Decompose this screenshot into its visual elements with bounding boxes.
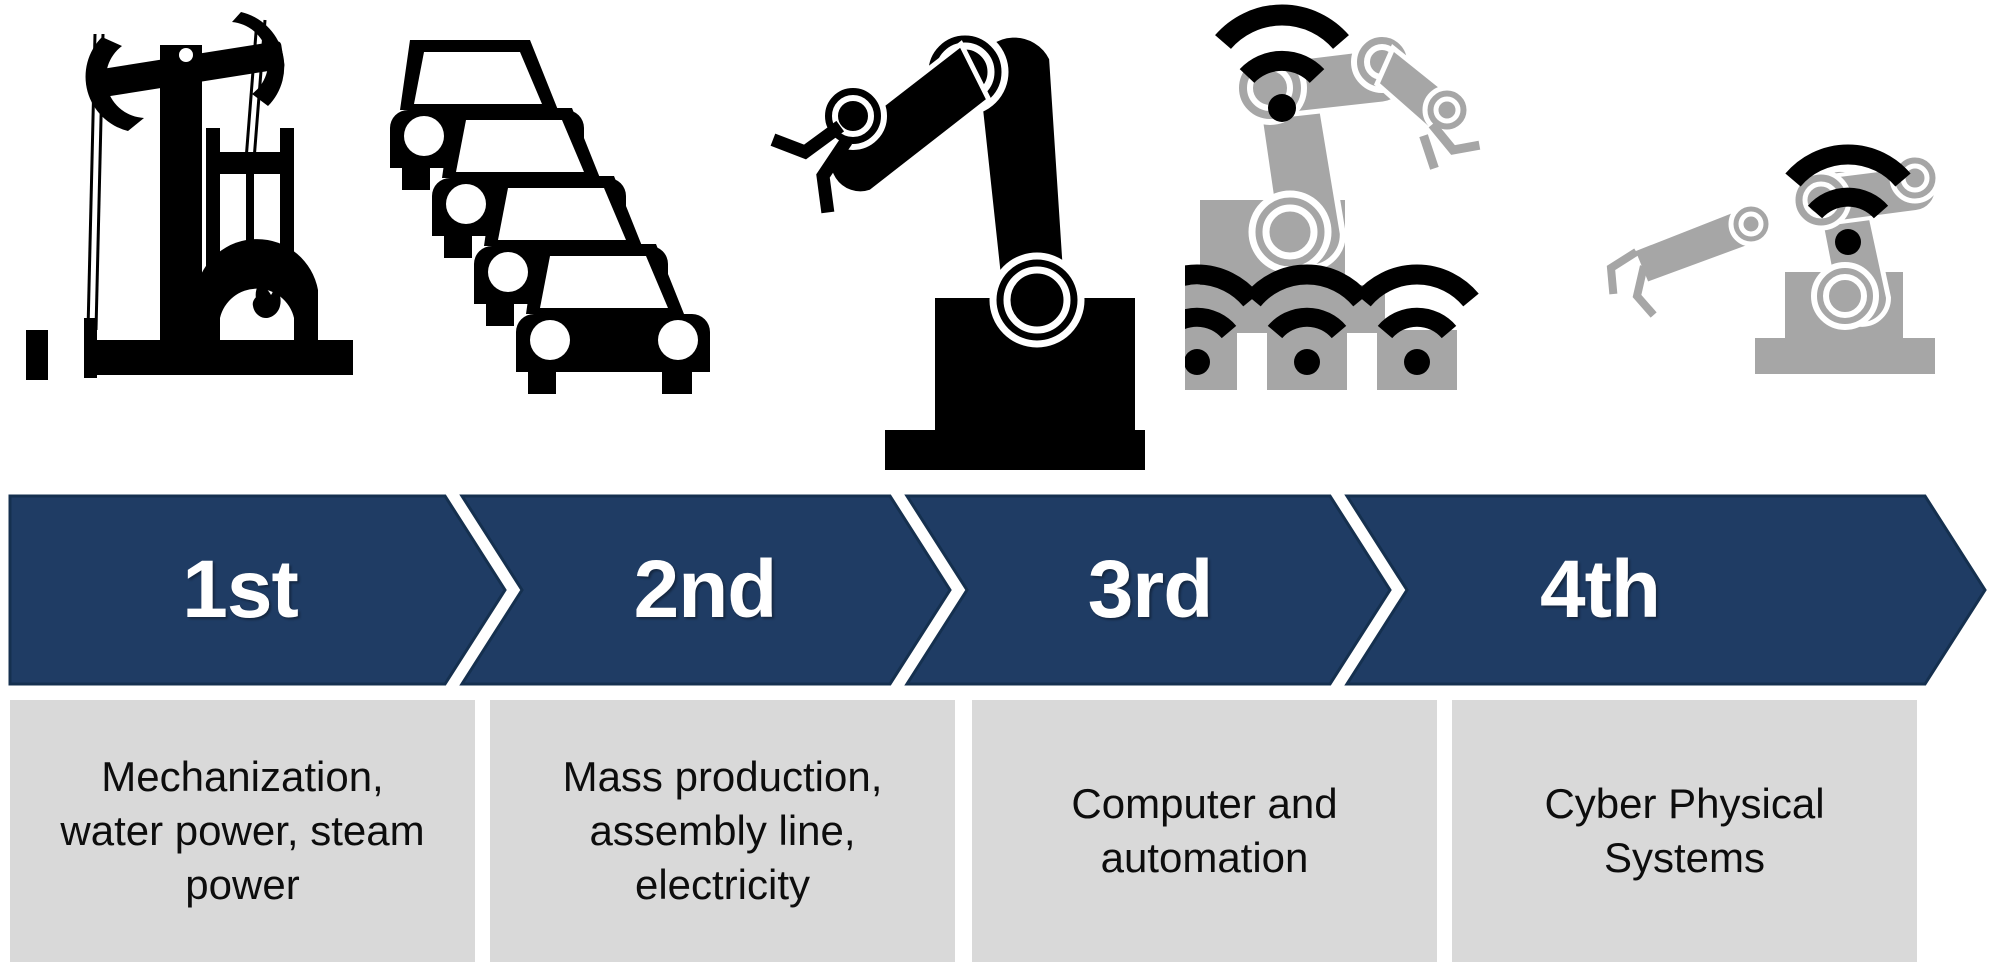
base-slab [95, 340, 353, 375]
revolutions-chevron-banner: 1st 2nd 3rd 4th [0, 490, 2000, 690]
description-box-3: Computer and automation [972, 700, 1437, 962]
robot-arm-icon [765, 0, 1185, 490]
chevron-3[interactable] [907, 496, 1390, 684]
stage-4-icon [1185, 0, 2000, 490]
chevron-1[interactable] [10, 496, 505, 684]
industrial-revolutions-infographic: 1st 2nd 3rd 4th Mechanization, water pow… [0, 0, 2000, 971]
description-row: Mechanization, water power, steam power … [0, 700, 2000, 962]
car-4 [516, 244, 710, 394]
chevron-4[interactable] [1347, 496, 1985, 684]
stage-3-icon [765, 0, 1185, 490]
chevron-2[interactable] [462, 496, 950, 684]
description-box-2: Mass production, assembly line, electric… [490, 700, 955, 962]
beam-pivot [179, 48, 193, 62]
wifi-pedestal-3 [1363, 275, 1471, 390]
description-box-1: Mechanization, water power, steam power [10, 700, 475, 962]
base-plate [885, 430, 1145, 470]
column-post [160, 45, 202, 375]
stage-1-icon [0, 0, 390, 490]
stage-2-icon [390, 0, 765, 490]
robot-arm-gray-small [1611, 155, 1938, 374]
icon-row [0, 0, 2000, 490]
steam-beam-engine-icon [0, 0, 390, 490]
chevron-shapes [0, 490, 2000, 690]
connected-robots-iot-icon [1185, 0, 2000, 490]
description-box-4: Cyber Physical Systems [1452, 700, 1917, 962]
car-assembly-line-icon [390, 0, 765, 490]
